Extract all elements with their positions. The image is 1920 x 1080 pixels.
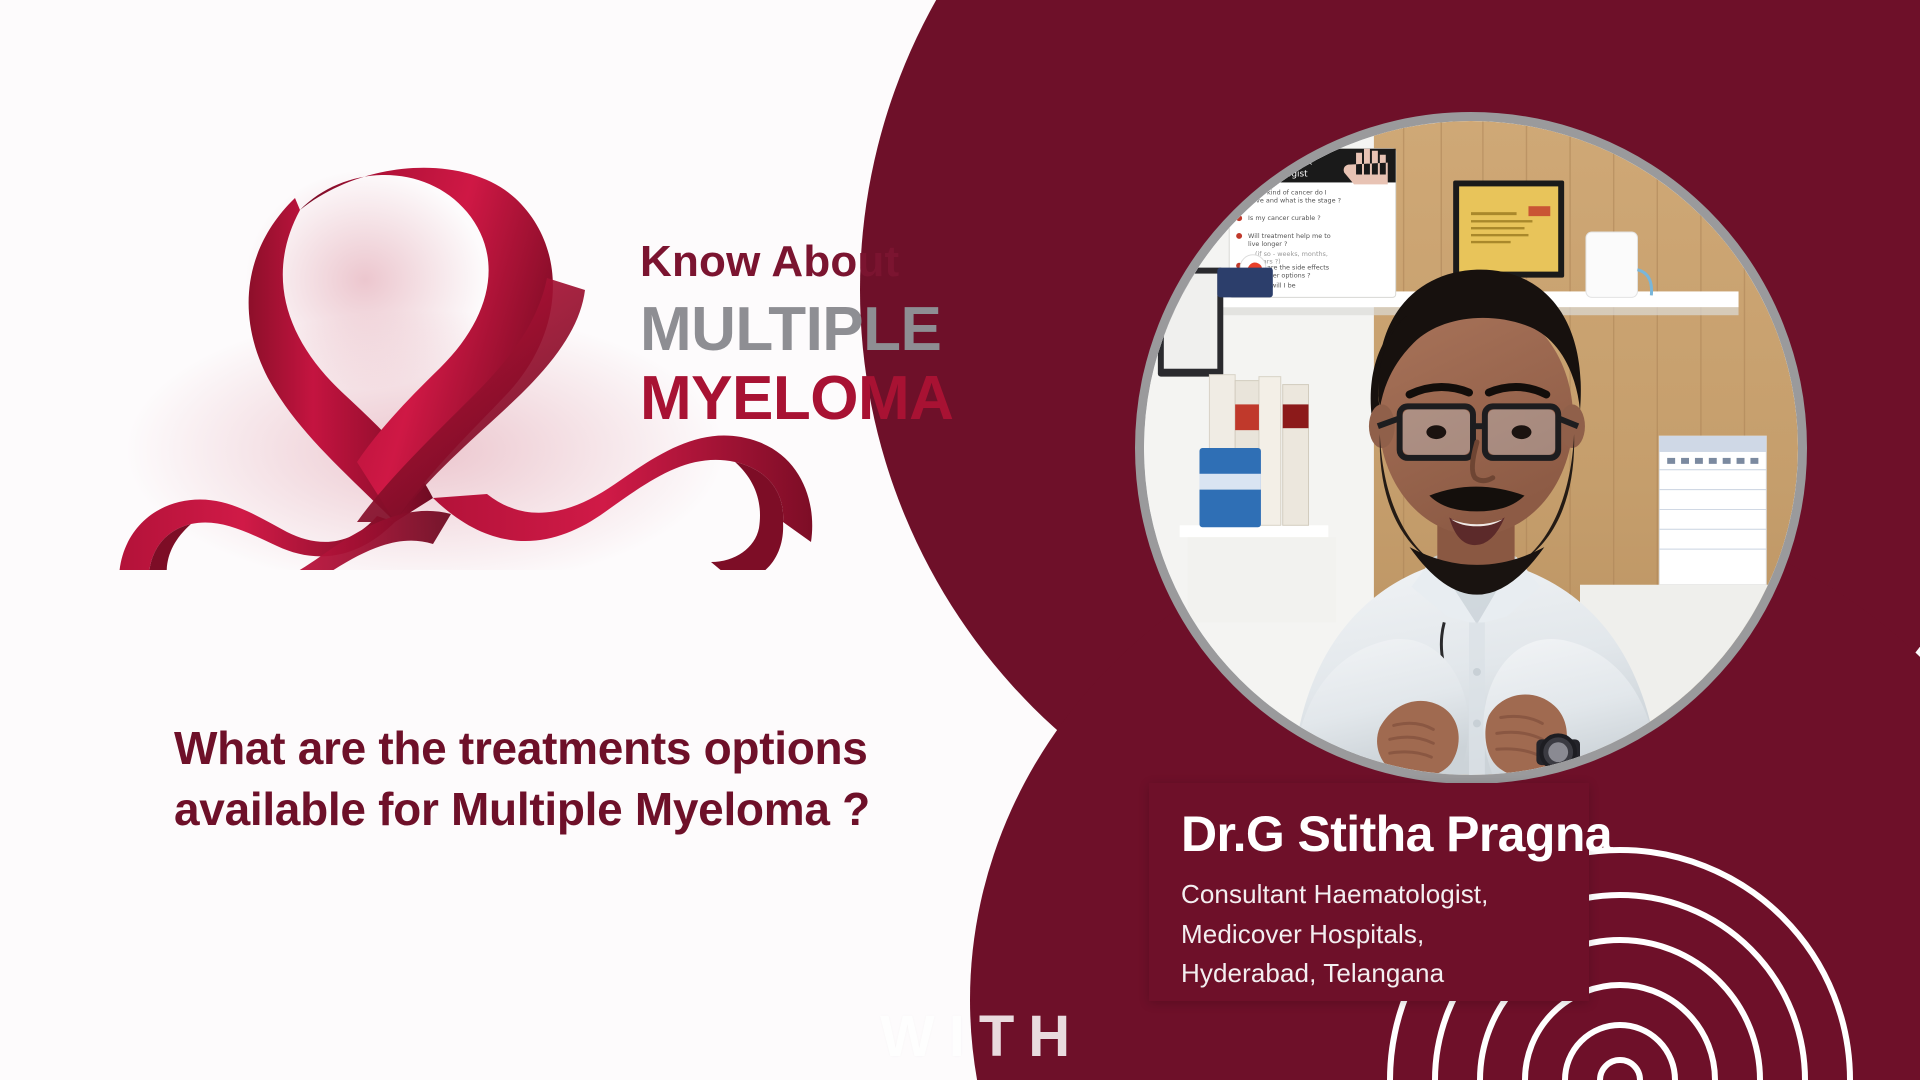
doctor-credential-line-3: Hyderabad, Telangana [1181,954,1589,994]
svg-text:What kind of cancer do I: What kind of cancer do I [1248,188,1327,196]
svg-text:Is my cancer curable ?: Is my cancer curable ? [1248,214,1321,222]
svg-text:live longer ?: live longer ? [1248,240,1287,248]
svg-text:have and what is the stage ?: have and what is the stage ? [1248,196,1341,204]
poster-canvas: Know About MULTIPLE MYELOMA What are the… [0,0,1920,1080]
heading-myeloma: MYELOMA [640,367,1060,430]
doctor-photo-circle: questions to ask your oncologist What ki… [1135,112,1807,784]
svg-text:your oncologist: your oncologist [1239,169,1308,179]
heading-know-about: Know About [640,240,1060,284]
svg-text:(if so - weeks, months,: (if so - weeks, months, [1255,250,1328,258]
svg-text:Will treatment help me to: Will treatment help me to [1248,232,1331,240]
doctor-photo: questions to ask your oncologist What ki… [1144,121,1798,775]
doctor-name: Dr.G Stitha Pragna [1181,809,1589,859]
doctor-credential-line-1: Consultant Haematologist, [1181,875,1589,915]
question-text: What are the treatments options availabl… [174,718,1054,839]
watermark-text: WITH [880,1003,1084,1070]
svg-text:questions to ask: questions to ask [1239,158,1313,168]
doctor-credential-line-2: Medicover Hospitals, [1181,915,1589,955]
doctor-nameplate: Dr.G Stitha Pragna Consultant Haematolog… [1149,783,1589,1001]
heading-multiple: MULTIPLE [640,298,1060,361]
poster-heading: Know About MULTIPLE MYELOMA [640,240,1060,430]
